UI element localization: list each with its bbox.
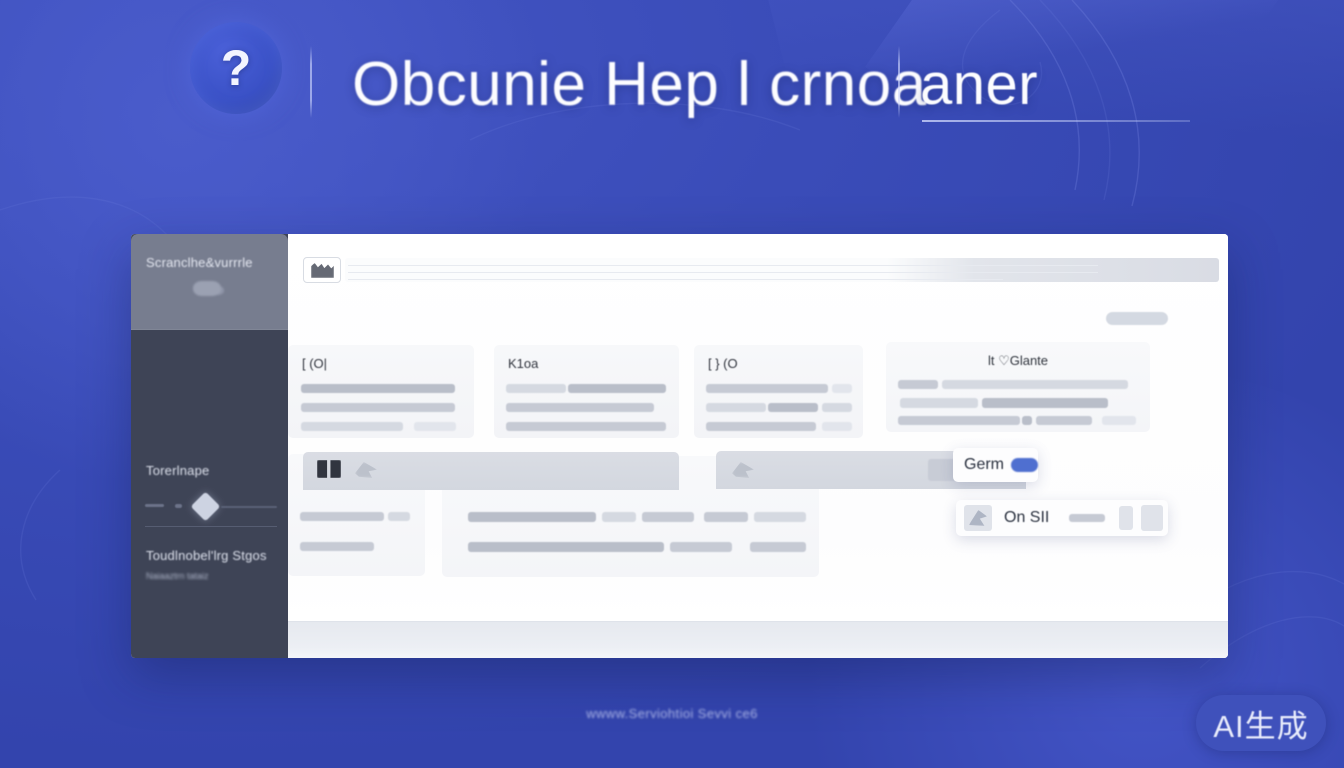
window-status-bar [288,621,1228,658]
pill-shape-icon [193,281,221,296]
header-divider-right [898,46,900,118]
toolbar-line [348,265,1098,266]
main-content: [ (O| K1oa [ } (O [288,234,1228,658]
card[interactable]: K1oa [494,345,679,438]
skeleton-bar [768,403,818,412]
card-title: [ } (O [708,356,738,371]
skeleton-bar [832,384,852,393]
skeleton-bar [898,416,1020,425]
skeleton-bar [301,422,403,431]
sidebar-bar [175,504,182,508]
ai-badge-label: AI生成 [1213,701,1308,746]
card[interactable]: [ (O| [288,345,474,438]
chip-onsi[interactable]: On SII [956,500,1168,536]
chip-square [1141,505,1163,531]
skeleton-bar [1036,416,1092,425]
site-url: wwww.Serviohtioi Sevvi ce6 [0,706,1344,721]
sidebar-section-title[interactable]: Torerlnape [146,463,209,478]
swoosh-icon [355,462,377,478]
skeleton-bar [822,403,852,412]
skeleton-bar [642,512,694,522]
toolbar-line [348,279,1003,280]
card[interactable]: [ } (O [694,345,863,438]
toolbar-line [348,272,1098,273]
skeleton-bar [750,542,806,552]
swoosh-icon [732,462,754,478]
image-placeholder-icon[interactable] [303,257,341,283]
diamond-icon[interactable] [191,492,221,522]
skeleton-bar [301,403,455,412]
sidebar-section-subtitle: Naiaaztrn tataiz [146,571,209,581]
skeleton-bar [982,398,1108,408]
question-mark-icon: ? [221,43,252,93]
card-title: K1oa [508,356,538,371]
skeleton-bar [706,403,766,412]
skeleton-bar [602,512,636,522]
main-canvas: [ (O| K1oa [ } (O [288,234,1228,621]
header: ? Obcunie Hep l crnoa aner [0,0,1344,170]
skeleton-bar [568,384,666,393]
split-view-icon [317,460,341,478]
swoosh-icon [969,510,987,526]
skeleton-bar [301,384,455,393]
skeleton-bar [506,384,566,393]
skeleton-bar [300,512,384,521]
card-title: [ (O| [302,356,327,371]
skeleton-bar [414,422,456,431]
skeleton-bar [1069,514,1105,522]
skeleton-bar [468,542,664,552]
header-divider-left [310,46,312,118]
skeleton-bar [670,542,732,552]
help-logo-badge[interactable]: ? [190,22,282,114]
header-underline [922,120,1190,122]
skeleton-bar [706,384,828,393]
sidebar-item-active[interactable]: Scranclhe&vurrrle [131,234,288,330]
card[interactable]: lt ♡Glante [886,342,1150,432]
swoosh-icon-box [964,505,992,531]
skeleton-bar [898,380,938,389]
skeleton-bar [942,380,1128,389]
sidebar-slider-track[interactable] [221,506,277,508]
skeleton-bar [468,512,596,522]
panel-header-band[interactable] [303,452,679,490]
skeleton-bar [900,398,978,408]
chip-square [1119,506,1133,530]
chip-germ[interactable]: Germ [953,448,1038,482]
skeleton-bar [506,403,654,412]
toolbar-action-pill[interactable] [1106,312,1168,325]
sidebar-item-label: Scranclhe&vurrrle [146,255,280,270]
app-window: Scranclhe&vurrrle Torerlnape Toudlnobel'… [131,234,1228,658]
chip-label: On SII [1004,509,1049,527]
header-subtitle: aner [920,46,1220,124]
page-title: Obcunie Hep l crnoa [352,42,892,128]
sidebar: Scranclhe&vurrrle Torerlnape Toudlnobel'… [131,234,288,658]
skeleton-bar [388,512,410,521]
skeleton-bar [706,422,816,431]
sidebar-bar [145,504,164,507]
skeleton-bar [1022,416,1032,425]
chip-label: Germ [964,456,1004,474]
card-title: lt ♡Glante [988,353,1048,369]
sidebar-divider [145,526,277,527]
sidebar-section-title[interactable]: Toudlnobel'lrg Stgos [146,548,267,563]
skeleton-bar [506,422,666,431]
skeleton-bar [1102,416,1136,425]
ai-generated-badge: AI生成 [1196,695,1326,751]
skeleton-bar [704,512,748,522]
skeleton-bar [300,542,374,551]
skeleton-bar [754,512,806,522]
blue-pill-icon [1011,458,1038,472]
skeleton-bar [822,422,852,431]
